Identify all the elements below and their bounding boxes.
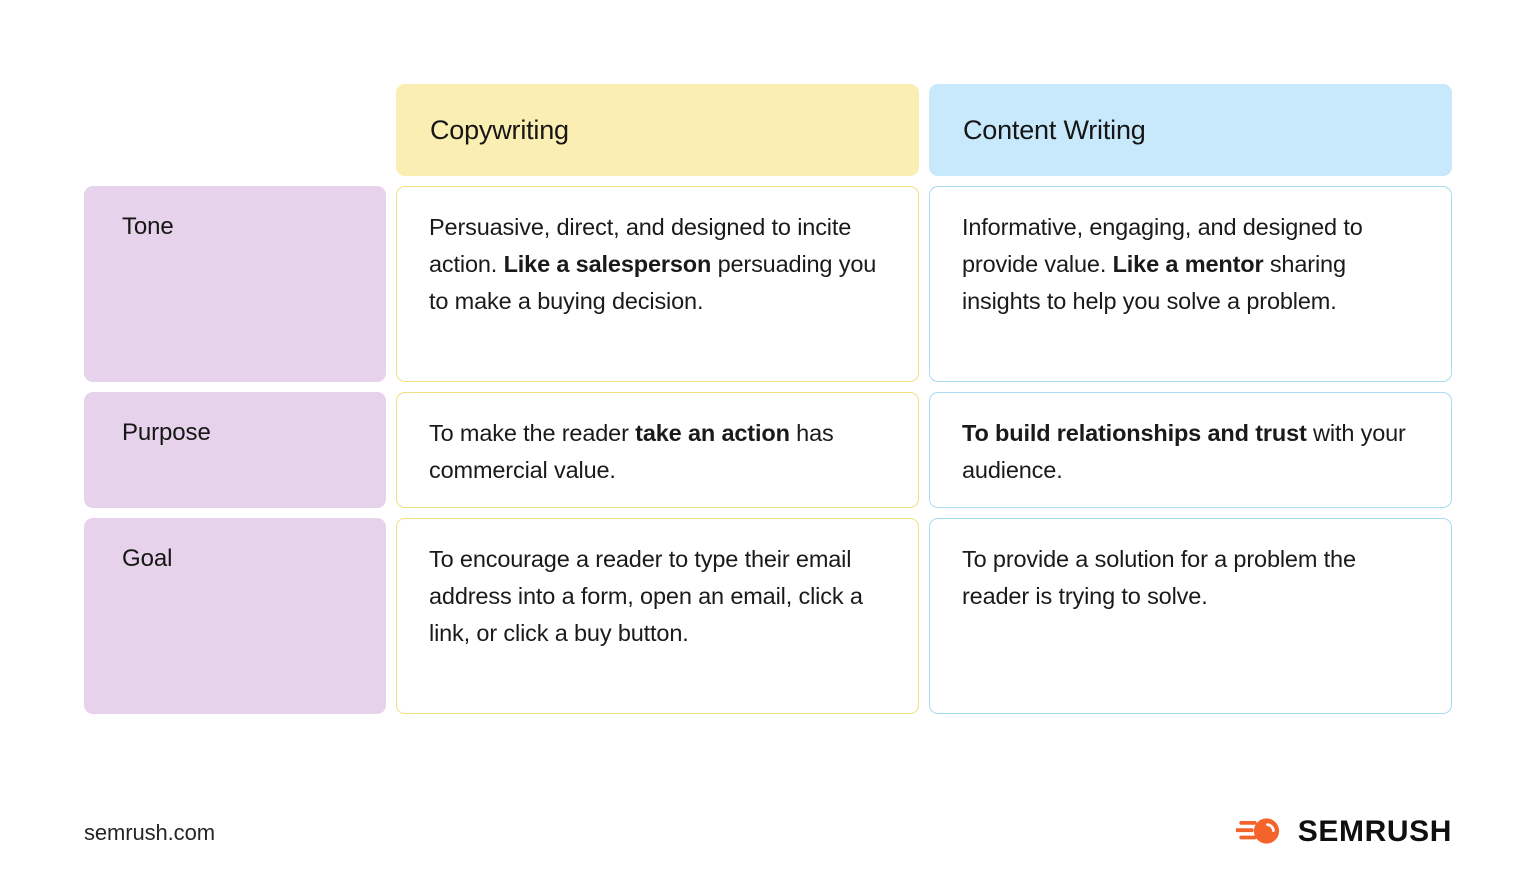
column-header-content-writing: Content Writing [929, 84, 1452, 176]
cell-purpose-copywriting: To make the reader take an action has co… [396, 392, 919, 508]
cell-text: To make the reader take an action has co… [429, 415, 886, 489]
semrush-wordmark: SEMRUSH [1298, 817, 1452, 847]
infographic-page: Copywriting Content Writing Tone Persuas… [0, 0, 1536, 872]
column-header-label: Copywriting [430, 114, 569, 146]
cell-text: To encourage a reader to type their emai… [429, 541, 886, 652]
cell-tone-copywriting: Persuasive, direct, and designed to inci… [396, 186, 919, 382]
comparison-table: Copywriting Content Writing Tone Persuas… [84, 84, 1452, 714]
semrush-logo: SEMRUSH [1236, 812, 1452, 852]
footer: semrush.com SEMRUSH [0, 806, 1536, 872]
cell-text: To provide a solution for a problem the … [962, 541, 1419, 615]
cell-text: Persuasive, direct, and designed to inci… [429, 209, 886, 320]
semrush-comet-icon [1236, 812, 1284, 852]
column-header-label: Content Writing [963, 114, 1146, 146]
row-label-purpose: Purpose [84, 392, 386, 508]
cell-text: Informative, engaging, and designed to p… [962, 209, 1419, 320]
cell-text: To build relationships and trust with yo… [962, 415, 1419, 489]
column-header-copywriting: Copywriting [396, 84, 919, 176]
table-corner-spacer [84, 84, 386, 176]
row-label-text: Tone [122, 212, 174, 242]
row-label-goal: Goal [84, 518, 386, 714]
cell-tone-content-writing: Informative, engaging, and designed to p… [929, 186, 1452, 382]
row-label-tone: Tone [84, 186, 386, 382]
footer-url[interactable]: semrush.com [84, 820, 215, 846]
cell-goal-content-writing: To provide a solution for a problem the … [929, 518, 1452, 714]
row-label-text: Goal [122, 544, 172, 574]
cell-purpose-content-writing: To build relationships and trust with yo… [929, 392, 1452, 508]
row-label-text: Purpose [122, 418, 211, 448]
cell-goal-copywriting: To encourage a reader to type their emai… [396, 518, 919, 714]
